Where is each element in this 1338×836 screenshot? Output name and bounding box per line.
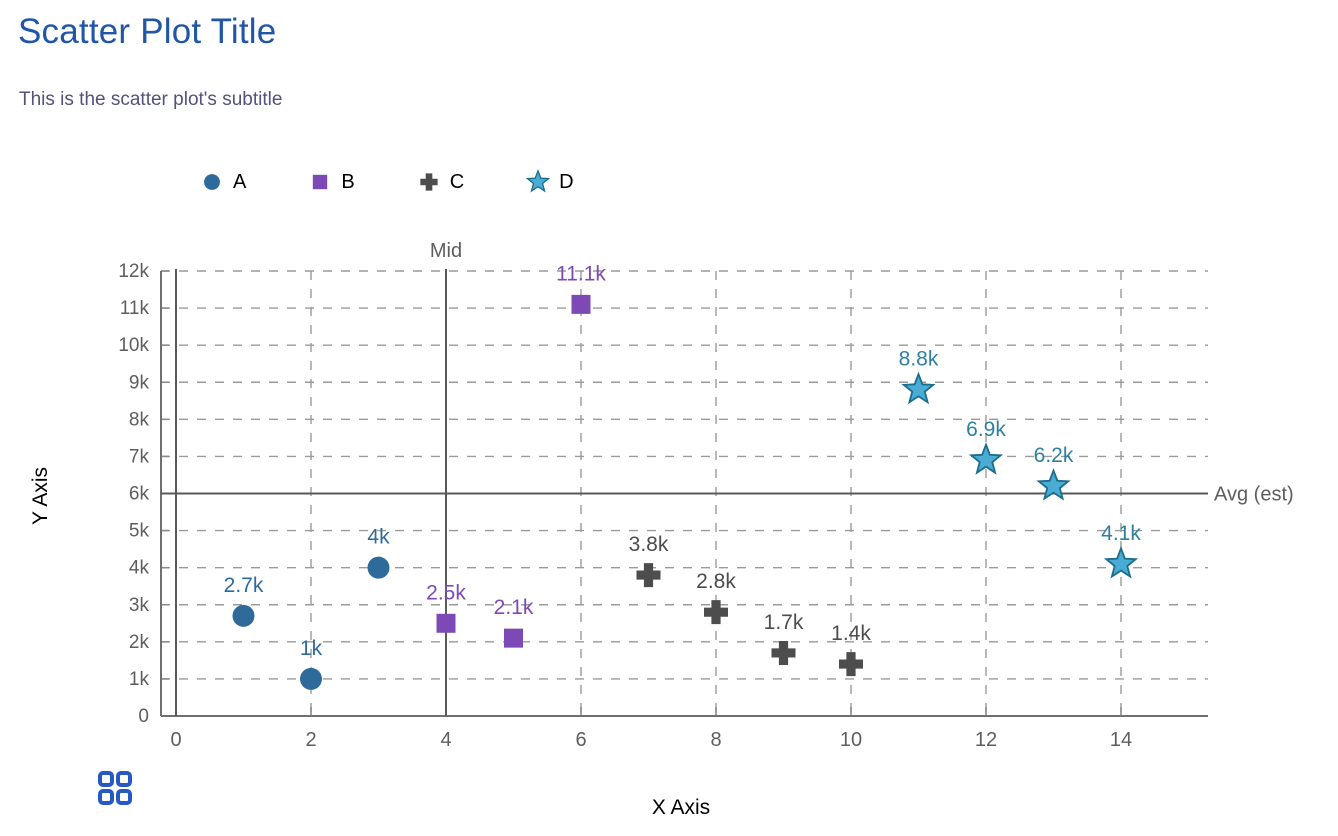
data-point-label: 2.8k <box>696 570 736 593</box>
x-tick-label: 0 <box>170 729 181 751</box>
y-tick-label: 8k <box>129 409 150 430</box>
y-tick-label: 5k <box>129 521 150 542</box>
legend-item-label: C <box>450 171 464 194</box>
grid-icon[interactable] <box>98 771 132 805</box>
data-point-label: 2.7k <box>224 574 264 597</box>
x-axis-title: X Axis <box>652 796 710 819</box>
grid-icon-glyph <box>98 771 132 805</box>
square-marker-icon <box>308 170 332 194</box>
y-tick-label: 2k <box>129 632 150 653</box>
data-point[interactable] <box>504 629 523 648</box>
data-point-label: 6.2k <box>1034 444 1074 467</box>
scatter-plot-panel: Scatter Plot Title This is the scatter p… <box>0 0 1338 836</box>
data-point[interactable] <box>233 605 255 627</box>
data-point[interactable] <box>904 374 933 402</box>
data-point-label: 1.7k <box>764 611 804 634</box>
legend-item-label: B <box>341 171 354 194</box>
x-tick-label: 4 <box>440 729 451 751</box>
x-tick-label: 8 <box>710 729 721 751</box>
legend-item-label: A <box>233 171 246 194</box>
legend-item-label: D <box>559 171 573 194</box>
page-title: Scatter Plot Title <box>18 12 276 52</box>
series-group-d: 8.8k6.9k6.2k4.1k <box>899 348 1142 577</box>
x-tick-label: 14 <box>1110 729 1132 751</box>
data-point[interactable] <box>839 652 863 676</box>
y-tick-label: 6k <box>129 484 150 505</box>
data-point[interactable] <box>772 641 796 665</box>
data-point-label: 1k <box>300 637 323 660</box>
circle-marker-icon <box>200 170 224 194</box>
y-tick-label: 0 <box>138 706 149 727</box>
data-point[interactable] <box>572 295 591 314</box>
data-point[interactable] <box>704 600 728 624</box>
x-tick-label: 10 <box>840 729 862 751</box>
series-group-b: 2.5k2.1k11.1k <box>426 262 606 647</box>
data-point[interactable] <box>1039 471 1068 499</box>
legend-item-c[interactable]: C <box>417 170 464 194</box>
data-point[interactable] <box>1106 548 1135 576</box>
data-point-label: 4k <box>367 526 390 549</box>
data-point-label: 8.8k <box>899 348 939 371</box>
star-marker-icon <box>526 170 550 194</box>
cross-marker-icon <box>417 170 441 194</box>
reference-line-label-avg: Avg (est) <box>1214 484 1294 506</box>
data-point-label: 2.1k <box>494 596 534 619</box>
y-axis-title: Y Axis <box>29 467 52 525</box>
plot-canvas: 01k2k3k4k5k6k7k8k9k10k11k12k02468101214M… <box>0 0 1338 836</box>
x-tick-label: 12 <box>975 729 997 751</box>
x-tick-label: 2 <box>305 729 316 751</box>
data-point-label: 4.1k <box>1101 522 1141 545</box>
data-point[interactable] <box>437 614 456 633</box>
y-tick-label: 12k <box>118 261 149 282</box>
data-point-label: 11.1k <box>556 262 606 285</box>
reference-line-label-mid: Mid <box>430 240 462 262</box>
y-tick-label: 10k <box>118 335 149 356</box>
data-point-label: 1.4k <box>831 622 871 645</box>
chart-legend: ABCD <box>200 167 574 197</box>
y-tick-label: 11k <box>120 298 150 319</box>
legend-item-b[interactable]: B <box>308 170 354 194</box>
data-point-label: 3.8k <box>629 533 669 556</box>
data-point[interactable] <box>368 557 390 579</box>
data-point[interactable] <box>971 445 1000 473</box>
data-point[interactable] <box>637 563 661 587</box>
legend-item-d[interactable]: D <box>526 170 573 194</box>
series-group-a: 2.7k1k4k <box>224 526 390 690</box>
y-tick-label: 7k <box>129 446 150 467</box>
series-group-c: 3.8k2.8k1.7k1.4k <box>629 533 872 676</box>
page-subtitle: This is the scatter plot's subtitle <box>19 89 282 111</box>
data-point-label: 2.5k <box>426 581 466 604</box>
data-point[interactable] <box>300 668 322 690</box>
legend-item-a[interactable]: A <box>200 170 246 194</box>
y-tick-label: 3k <box>129 595 150 616</box>
y-tick-label: 1k <box>129 669 150 690</box>
x-tick-label: 6 <box>575 729 586 751</box>
y-tick-label: 9k <box>129 372 150 393</box>
data-point-label: 6.9k <box>966 418 1006 441</box>
y-tick-label: 4k <box>129 558 150 579</box>
